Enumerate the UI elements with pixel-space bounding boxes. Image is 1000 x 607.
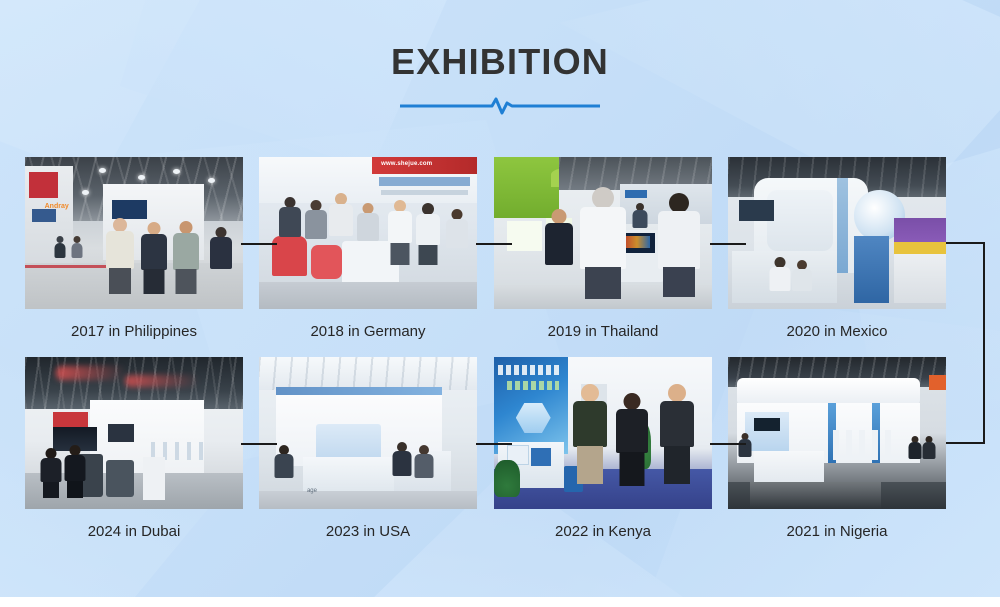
gallery-photo-2018[interactable]: www.shejue.com [259, 157, 477, 309]
heartbeat-divider-icon [400, 96, 600, 116]
gallery-item-2018[interactable]: www.shejue.com [259, 157, 477, 340]
gallery-item-2023[interactable]: age 2023 in USA [259, 357, 477, 540]
gallery-item-2019[interactable]: 2019 in Thailand [494, 157, 712, 340]
gallery-item-2021[interactable]: 2021 in Nigeria [728, 357, 946, 540]
connector-row2-gap1 [241, 443, 277, 445]
gallery-item-2017[interactable]: Andray [25, 157, 243, 340]
gallery-caption-2018: 2018 in Germany [259, 323, 477, 340]
connector-row1-gap2 [476, 243, 512, 245]
page-title-wrap: EXHIBITION [0, 44, 1000, 80]
page-title: EXHIBITION [0, 44, 1000, 80]
connector-right-edge-to-row2 [946, 442, 985, 444]
gallery-caption-2024: 2024 in Dubai [25, 523, 243, 540]
gallery-photo-2024[interactable] [25, 357, 243, 509]
gallery-photo-2019[interactable] [494, 157, 712, 309]
connector-row1-to-right-edge [946, 242, 985, 244]
gallery-photo-2023[interactable]: age [259, 357, 477, 509]
connector-row1-gap3 [710, 243, 746, 245]
gallery-item-2022[interactable]: 2022 in Kenya [494, 357, 712, 540]
gallery-photo-2022[interactable] [494, 357, 712, 509]
connector-right-edge-vertical [983, 242, 985, 444]
gallery-caption-2023: 2023 in USA [259, 523, 477, 540]
gallery-photo-2021[interactable] [728, 357, 946, 509]
connector-row1-gap1 [241, 243, 277, 245]
gallery-item-2020[interactable]: 2020 in Mexico [728, 157, 946, 340]
gallery-caption-2019: 2019 in Thailand [494, 323, 712, 340]
gallery-item-2024[interactable]: 2024 in Dubai [25, 357, 243, 540]
gallery-caption-2022: 2022 in Kenya [494, 523, 712, 540]
gallery-photo-2017[interactable]: Andray [25, 157, 243, 309]
gallery-caption-2017: 2017 in Philippines [25, 323, 243, 340]
connector-row2-gap3 [710, 443, 746, 445]
gallery-caption-2020: 2020 in Mexico [728, 323, 946, 340]
gallery-caption-2021: 2021 in Nigeria [728, 523, 946, 540]
gallery-photo-2020[interactable] [728, 157, 946, 309]
connector-row2-gap2 [476, 443, 512, 445]
exhibition-page: EXHIBITION Andray [0, 0, 1000, 607]
